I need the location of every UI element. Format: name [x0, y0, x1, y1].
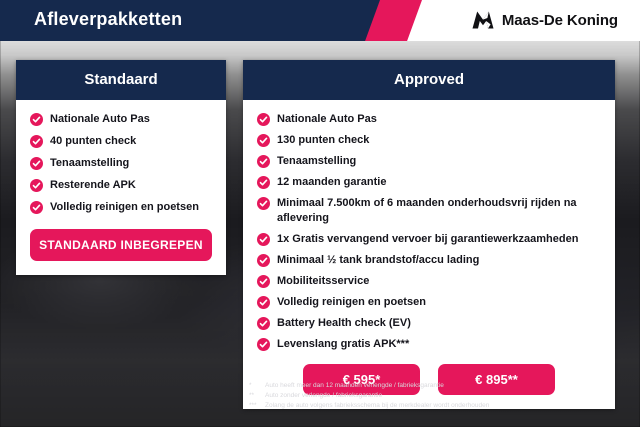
page-title: Afleverpakketten	[34, 9, 182, 30]
check-circle-icon	[257, 176, 270, 189]
list-item: Tenaamstelling	[30, 156, 212, 171]
feature-label: Tenaamstelling	[50, 156, 129, 171]
list-item: Nationale Auto Pas	[257, 112, 601, 127]
check-circle-icon	[257, 155, 270, 168]
check-circle-icon	[257, 134, 270, 147]
check-circle-icon	[257, 296, 270, 309]
feature-label: Battery Health check (EV)	[277, 316, 411, 331]
standaard-inbegrepen-button[interactable]: STANDAARD INBEGREPEN	[30, 229, 212, 261]
list-item: Minimaal ½ tank brandstof/accu lading	[257, 253, 601, 268]
feature-label: 12 maanden garantie	[277, 175, 386, 190]
feature-label: Minimaal ½ tank brandstof/accu lading	[277, 253, 479, 268]
feature-label: Volledig reinigen en poetsen	[50, 200, 199, 215]
check-circle-icon	[30, 179, 43, 192]
check-circle-icon	[257, 233, 270, 246]
check-circle-icon	[30, 201, 43, 214]
list-item: 12 maanden garantie	[257, 175, 601, 190]
check-circle-icon	[257, 113, 270, 126]
list-item: 1x Gratis vervangend vervoer bij garanti…	[257, 232, 601, 247]
footnotes: * Auto heeft meer dan 12 maanden verleng…	[243, 381, 615, 411]
footnote-text: Zolang de auto volgens fabrieksschema bi…	[265, 401, 615, 411]
list-item: Volledig reinigen en poetsen	[30, 200, 212, 215]
list-item: 130 punten check	[257, 133, 601, 148]
feature-label: Minimaal 7.500km of 6 maanden onderhouds…	[277, 196, 601, 226]
page-header: Afleverpakketten Maas-De Koning	[0, 0, 640, 41]
list-item: Battery Health check (EV)	[257, 316, 601, 331]
check-circle-icon	[257, 254, 270, 267]
feature-label: 40 punten check	[50, 134, 136, 149]
list-item: Minimaal 7.500km of 6 maanden onderhouds…	[257, 196, 601, 226]
card-standaard-body: Nationale Auto Pas 40 punten check Tenaa…	[16, 100, 226, 275]
list-item: Resterende APK	[30, 178, 212, 193]
card-standaard-title: Standaard	[16, 60, 226, 100]
feature-label: 130 punten check	[277, 133, 369, 148]
check-circle-icon	[30, 157, 43, 170]
list-item: Volledig reinigen en poetsen	[257, 295, 601, 310]
feature-label: Mobiliteitsservice	[277, 274, 369, 289]
card-approved: Approved Nationale Auto Pas 130 punten c…	[243, 60, 615, 409]
footnote-text: Auto heeft meer dan 12 maanden verlengde…	[265, 381, 615, 391]
check-circle-icon	[257, 338, 270, 351]
footnote-single-star: * Auto heeft meer dan 12 maanden verleng…	[243, 381, 615, 391]
list-item: Levenslang gratis APK***	[257, 337, 601, 352]
list-item: 40 punten check	[30, 134, 212, 149]
brand-name: Maas-De Koning	[502, 12, 618, 29]
feature-label: Nationale Auto Pas	[277, 112, 377, 127]
footnote-marker: ***	[243, 401, 265, 411]
feature-list-approved: Nationale Auto Pas 130 punten check Tena…	[257, 112, 601, 352]
maas-de-koning-m-logo-icon	[471, 10, 495, 30]
check-circle-icon	[30, 113, 43, 126]
feature-label: Levenslang gratis APK***	[277, 337, 409, 352]
check-circle-icon	[30, 135, 43, 148]
card-standaard: Standaard Nationale Auto Pas 40 punten c…	[16, 60, 226, 275]
footnote-triple-star: *** Zolang de auto volgens fabrieksschem…	[243, 401, 615, 411]
list-item: Mobiliteitsservice	[257, 274, 601, 289]
list-item: Tenaamstelling	[257, 154, 601, 169]
footnote-text: Auto zonder verlengde / fabrieksgarantie	[265, 391, 615, 401]
feature-label: Volledig reinigen en poetsen	[277, 295, 426, 310]
feature-label: Tenaamstelling	[277, 154, 356, 169]
feature-label: 1x Gratis vervangend vervoer bij garanti…	[277, 232, 578, 247]
brand-logo: Maas-De Koning	[471, 10, 618, 30]
footnote-marker: *	[243, 381, 265, 391]
afleverpakketten-page: Afleverpakketten Maas-De Koning Standaar…	[0, 0, 640, 427]
feature-label: Nationale Auto Pas	[50, 112, 150, 127]
card-approved-body: Nationale Auto Pas 130 punten check Tena…	[243, 100, 615, 409]
footnote-marker: **	[243, 391, 265, 401]
check-circle-icon	[257, 275, 270, 288]
feature-list-standaard: Nationale Auto Pas 40 punten check Tenaa…	[30, 112, 212, 215]
list-item: Nationale Auto Pas	[30, 112, 212, 127]
check-circle-icon	[257, 197, 270, 210]
check-circle-icon	[257, 317, 270, 330]
footnote-double-star: ** Auto zonder verlengde / fabrieksgaran…	[243, 391, 615, 401]
feature-label: Resterende APK	[50, 178, 136, 193]
card-approved-title: Approved	[243, 60, 615, 100]
